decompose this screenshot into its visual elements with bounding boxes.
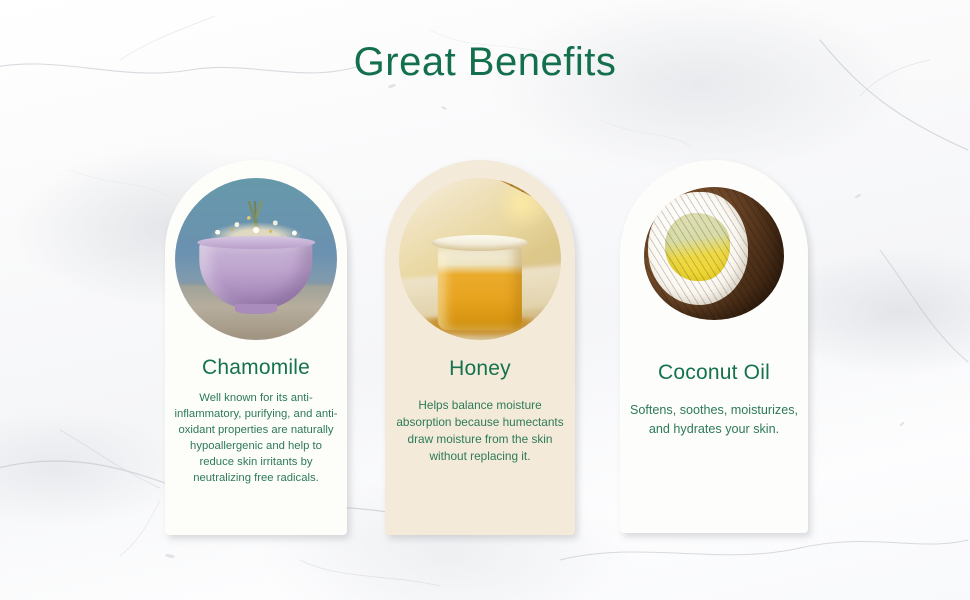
coconut-half-with-oil-photo [633, 174, 795, 336]
benefit-card-honey[interactable]: Honey Helps balance moisture absorption … [385, 160, 575, 535]
card-title-coconut: Coconut Oil [658, 361, 770, 385]
chamomile-bowl-photo [175, 178, 337, 340]
card-body-honey: Helps balance moisture absorption becaus… [385, 397, 575, 465]
card-body-chamomile: Well known for its anti-inflammatory, pu… [165, 390, 347, 486]
benefits-card-row: Chamomile Well known for its anti-inflam… [0, 160, 970, 540]
card-body-coconut: Softens, soothes, moisturizes, and hydra… [620, 401, 808, 439]
card-title-honey: Honey [449, 357, 511, 381]
honey-jar-dipper-photo [399, 178, 561, 340]
card-title-chamomile: Chamomile [202, 356, 310, 380]
benefit-card-coconut[interactable]: Coconut Oil Softens, soothes, moisturize… [620, 160, 808, 533]
benefit-card-chamomile[interactable]: Chamomile Well known for its anti-inflam… [165, 160, 347, 535]
page-title: Great Benefits [0, 40, 970, 85]
